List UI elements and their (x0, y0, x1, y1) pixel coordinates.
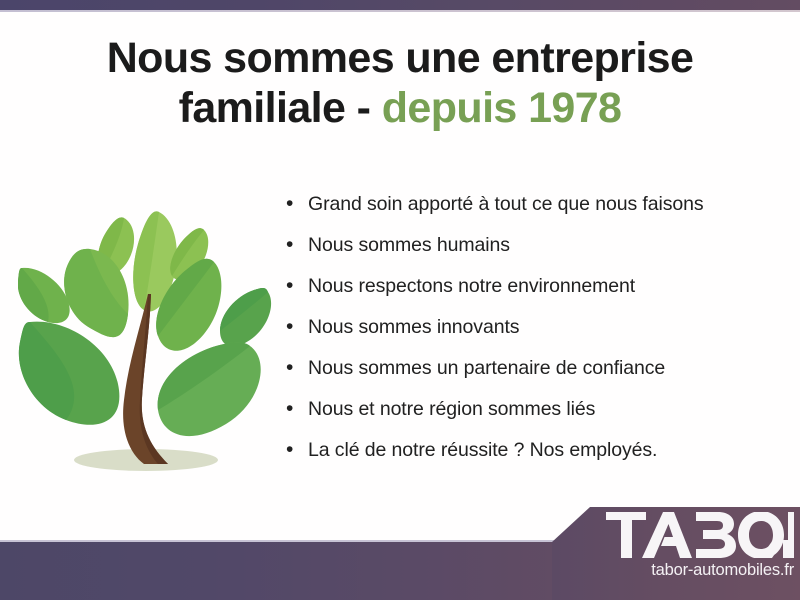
list-item-label: Nous sommes humains (308, 233, 510, 257)
list-item: • Nous et notre région sommes liés (286, 397, 766, 438)
list-item: • Nous sommes un partenaire de confiance (286, 356, 766, 397)
top-accent-bar (0, 0, 800, 10)
list-item: • Nous respectons notre environnement (286, 274, 766, 315)
bullet-icon: • (286, 233, 308, 257)
page-title-line-1: Nous sommes une entreprise (0, 34, 800, 84)
list-item: • Nous sommes innovants (286, 315, 766, 356)
list-item-label: Grand soin apporté à tout ce que nous fa… (308, 192, 704, 216)
list-item-label: Nous respectons notre environnement (308, 274, 635, 298)
list-item-label: Nous et notre région sommes liés (308, 397, 595, 421)
leaf-lower-left (19, 322, 120, 425)
list-item: • Nous sommes humains (286, 233, 766, 274)
bullet-icon: • (286, 315, 308, 339)
bullet-icon: • (286, 274, 308, 298)
top-accent-bar-highlight (0, 10, 800, 12)
bullet-icon: • (286, 192, 308, 216)
tabor-wordmark-icon (606, 512, 794, 558)
leaf-far-right (220, 288, 271, 346)
bottom-accent-bar-highlight (0, 540, 556, 542)
page-title: Nous sommes une entreprise familiale - d… (0, 34, 800, 134)
list-item: • La clé de notre réussite ? Nos employé… (286, 438, 766, 479)
list-item-label: Nous sommes un partenaire de confiance (308, 356, 665, 380)
leaf-far-left (18, 268, 70, 323)
page-title-accent: depuis 1978 (382, 84, 622, 132)
page-title-line-2: familiale - depuis 1978 (0, 84, 800, 134)
brand-logo[interactable]: tabor-automobiles.fr (606, 512, 794, 592)
bullet-icon: • (286, 397, 308, 421)
page-title-line-2-plain: familiale (179, 84, 346, 132)
tree-illustration (18, 188, 280, 490)
page-title-dash: - (357, 84, 371, 132)
bullet-icon: • (286, 438, 308, 462)
leaf-lower-right (158, 342, 261, 436)
value-list: • Grand soin apporté à tout ce que nous … (286, 192, 766, 479)
list-item: • Grand soin apporté à tout ce que nous … (286, 192, 766, 233)
slide-canvas: Nous sommes une entreprise familiale - d… (0, 0, 800, 600)
list-item-label: Nous sommes innovants (308, 315, 519, 339)
list-item-label: La clé de notre réussite ? Nos employés. (308, 438, 657, 462)
logo-domain-label: tabor-automobiles.fr (606, 561, 794, 580)
bullet-icon: • (286, 356, 308, 380)
